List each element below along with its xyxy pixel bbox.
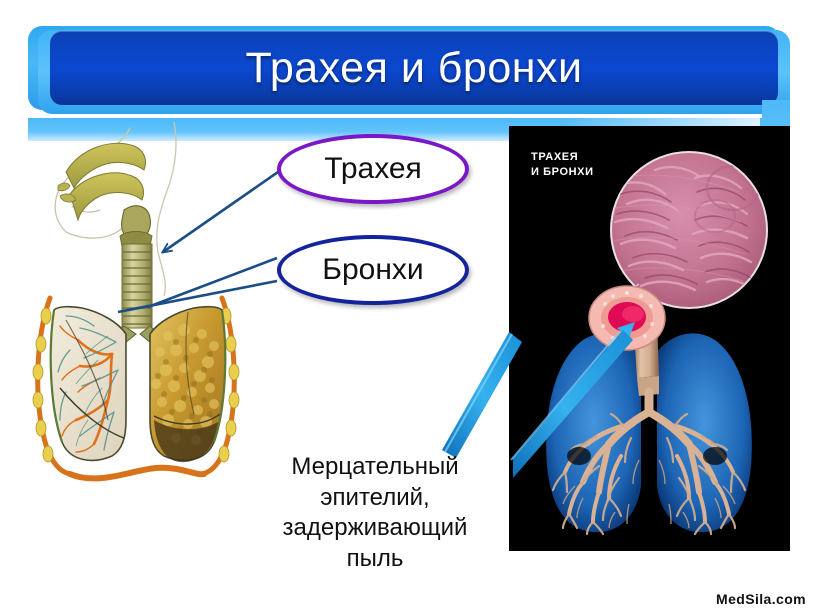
label-bronchi[interactable]: Бронхи: [277, 235, 469, 305]
photo-overlay-label-line1: ТРАХЕЯ: [531, 150, 594, 165]
caption-line-1: Мерцательный: [236, 452, 514, 483]
label-trachea-text: Трахея: [324, 152, 422, 186]
respiratory-system-illustration: [8, 120, 268, 500]
caption-line-3: задерживающий: [236, 513, 514, 544]
label-bronchi-text: Бронхи: [322, 253, 423, 287]
epithelium-caption: Мерцательный эпителий, задерживающий пыл…: [236, 452, 514, 575]
trachea-bronchi-photo: ТРАХЕЯ И БРОНХИ: [509, 126, 790, 551]
label-trachea[interactable]: Трахея: [277, 134, 469, 204]
page-title: Трахея и бронхи: [245, 47, 582, 90]
watermark: MedSila.com: [716, 591, 806, 607]
caption-line-2: эпителий,: [236, 483, 514, 514]
caption-line-4: пыль: [236, 544, 514, 575]
slide-canvas: Трахея и бронхи: [0, 0, 820, 615]
banner-panel: Трахея и бронхи: [50, 31, 778, 105]
photo-overlay-label-line2: И БРОНХИ: [531, 165, 594, 180]
title-banner: Трахея и бронхи: [28, 26, 790, 114]
photo-overlay-label: ТРАХЕЯ И БРОНХИ: [531, 150, 594, 180]
